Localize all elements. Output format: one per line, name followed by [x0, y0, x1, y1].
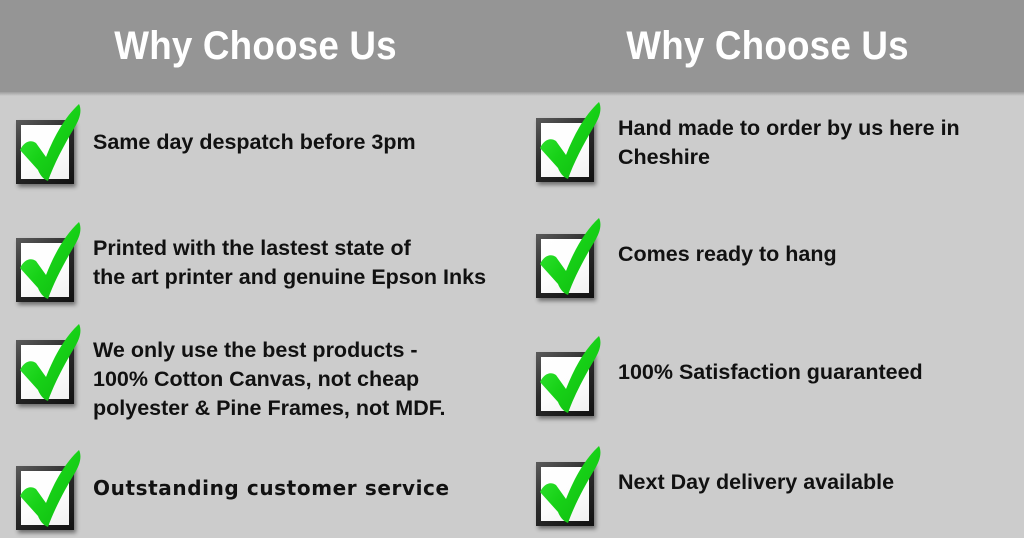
header-cell-left: Why Choose Us [0, 0, 512, 92]
green-check-box-icon [530, 330, 610, 422]
feature-text: Outstanding customer service [93, 444, 450, 503]
why-choose-us-banner: Why Choose Us Why Choose Us [0, 0, 1024, 538]
checkmark-glyph [10, 98, 90, 190]
page-title-right: Why Choose Us [627, 26, 910, 66]
feature-item: 100% Satisfaction guaranteed [530, 330, 923, 422]
green-check-box-icon [530, 96, 610, 188]
checkmark-glyph [530, 330, 610, 422]
feature-column-right: Hand made to order by us here in Cheshir… [512, 92, 1024, 538]
feature-item: Comes ready to hang [530, 212, 837, 304]
feature-item: Printed with the lastest state of the ar… [10, 216, 486, 308]
feature-text: Printed with the lastest state of the ar… [93, 216, 486, 292]
feature-column-left: Same day despatch before 3pm Printed wit… [0, 92, 512, 538]
checkmark-glyph [10, 318, 90, 410]
checkmark-glyph [10, 444, 90, 536]
feature-item: Outstanding customer service [10, 444, 450, 536]
checkmark-glyph [530, 212, 610, 304]
header-cell-right: Why Choose Us [512, 0, 1024, 92]
green-check-box-icon [10, 318, 90, 410]
feature-text: Next Day delivery available [618, 440, 894, 497]
green-check-box-icon [10, 216, 90, 308]
feature-text: We only use the best products - 100% Cot… [93, 318, 445, 423]
feature-text: 100% Satisfaction guaranteed [618, 330, 923, 387]
checkmark-glyph [530, 440, 610, 532]
feature-text: Comes ready to hang [618, 212, 837, 269]
feature-columns: Same day despatch before 3pm Printed wit… [0, 92, 1024, 538]
green-check-box-icon [530, 440, 610, 532]
green-check-box-icon [10, 444, 90, 536]
feature-item: Next Day delivery available [530, 440, 894, 532]
feature-item: Hand made to order by us here in Cheshir… [530, 96, 960, 188]
feature-item: Same day despatch before 3pm [10, 98, 416, 190]
feature-text: Same day despatch before 3pm [93, 98, 416, 157]
green-check-box-icon [530, 212, 610, 304]
header-band: Why Choose Us Why Choose Us [0, 0, 1024, 92]
checkmark-glyph [530, 96, 610, 188]
page-title-left: Why Choose Us [115, 26, 398, 66]
checkmark-glyph [10, 216, 90, 308]
feature-text: Hand made to order by us here in Cheshir… [618, 96, 960, 172]
feature-item: We only use the best products - 100% Cot… [10, 318, 445, 423]
green-check-box-icon [10, 98, 90, 190]
